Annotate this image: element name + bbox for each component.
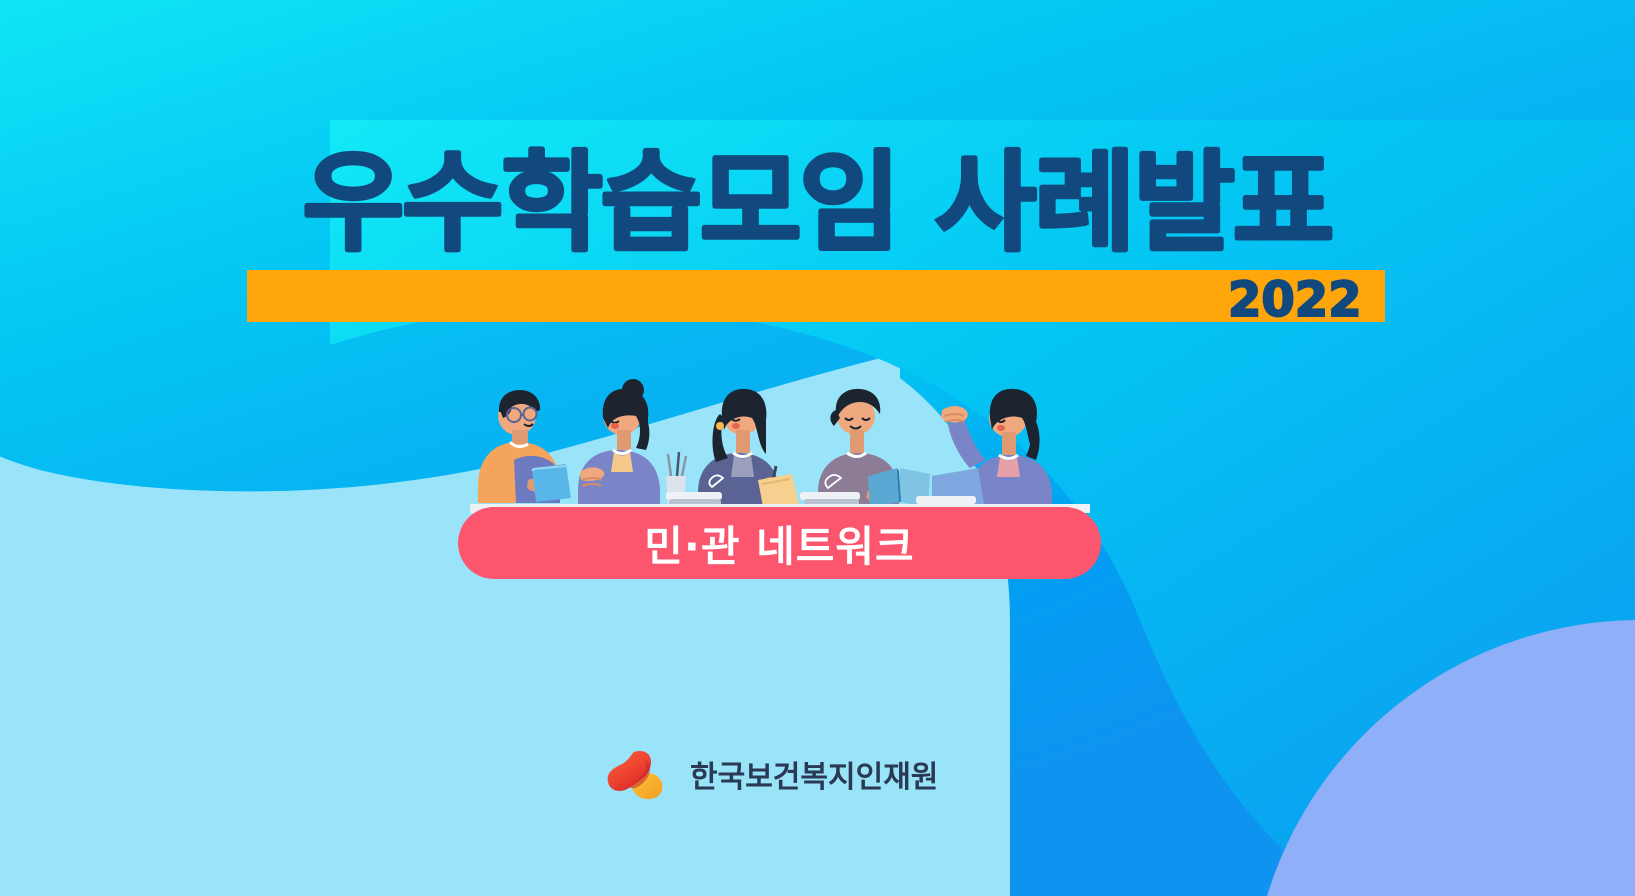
organization-name: 한국보건복지인재원 xyxy=(690,752,938,796)
person-mauve-shirt-book xyxy=(818,389,930,508)
organization-logo: 한국보건복지인재원 xyxy=(604,746,938,802)
title-block: 우수학습모임 사례발표 2022 xyxy=(0,150,1635,340)
person-bun-blue-blouse xyxy=(578,379,660,505)
poster-canvas: 우수학습모임 사례발표 2022 xyxy=(0,0,1635,896)
page-title: 우수학습모임 사례발표 xyxy=(0,150,1635,258)
illustration-people xyxy=(478,379,1052,512)
person-orange-sweater-glasses xyxy=(478,390,571,503)
notebook-right xyxy=(916,496,976,504)
institute-logo-mark xyxy=(604,746,676,802)
category-banner[interactable]: 민·관 네트워크 xyxy=(458,507,1101,579)
title-year: 2022 xyxy=(1228,272,1362,328)
category-banner-label: 민·관 네트워크 xyxy=(644,513,914,574)
title-highlight-bar xyxy=(247,270,1385,322)
study-group-illustration xyxy=(470,368,1090,513)
